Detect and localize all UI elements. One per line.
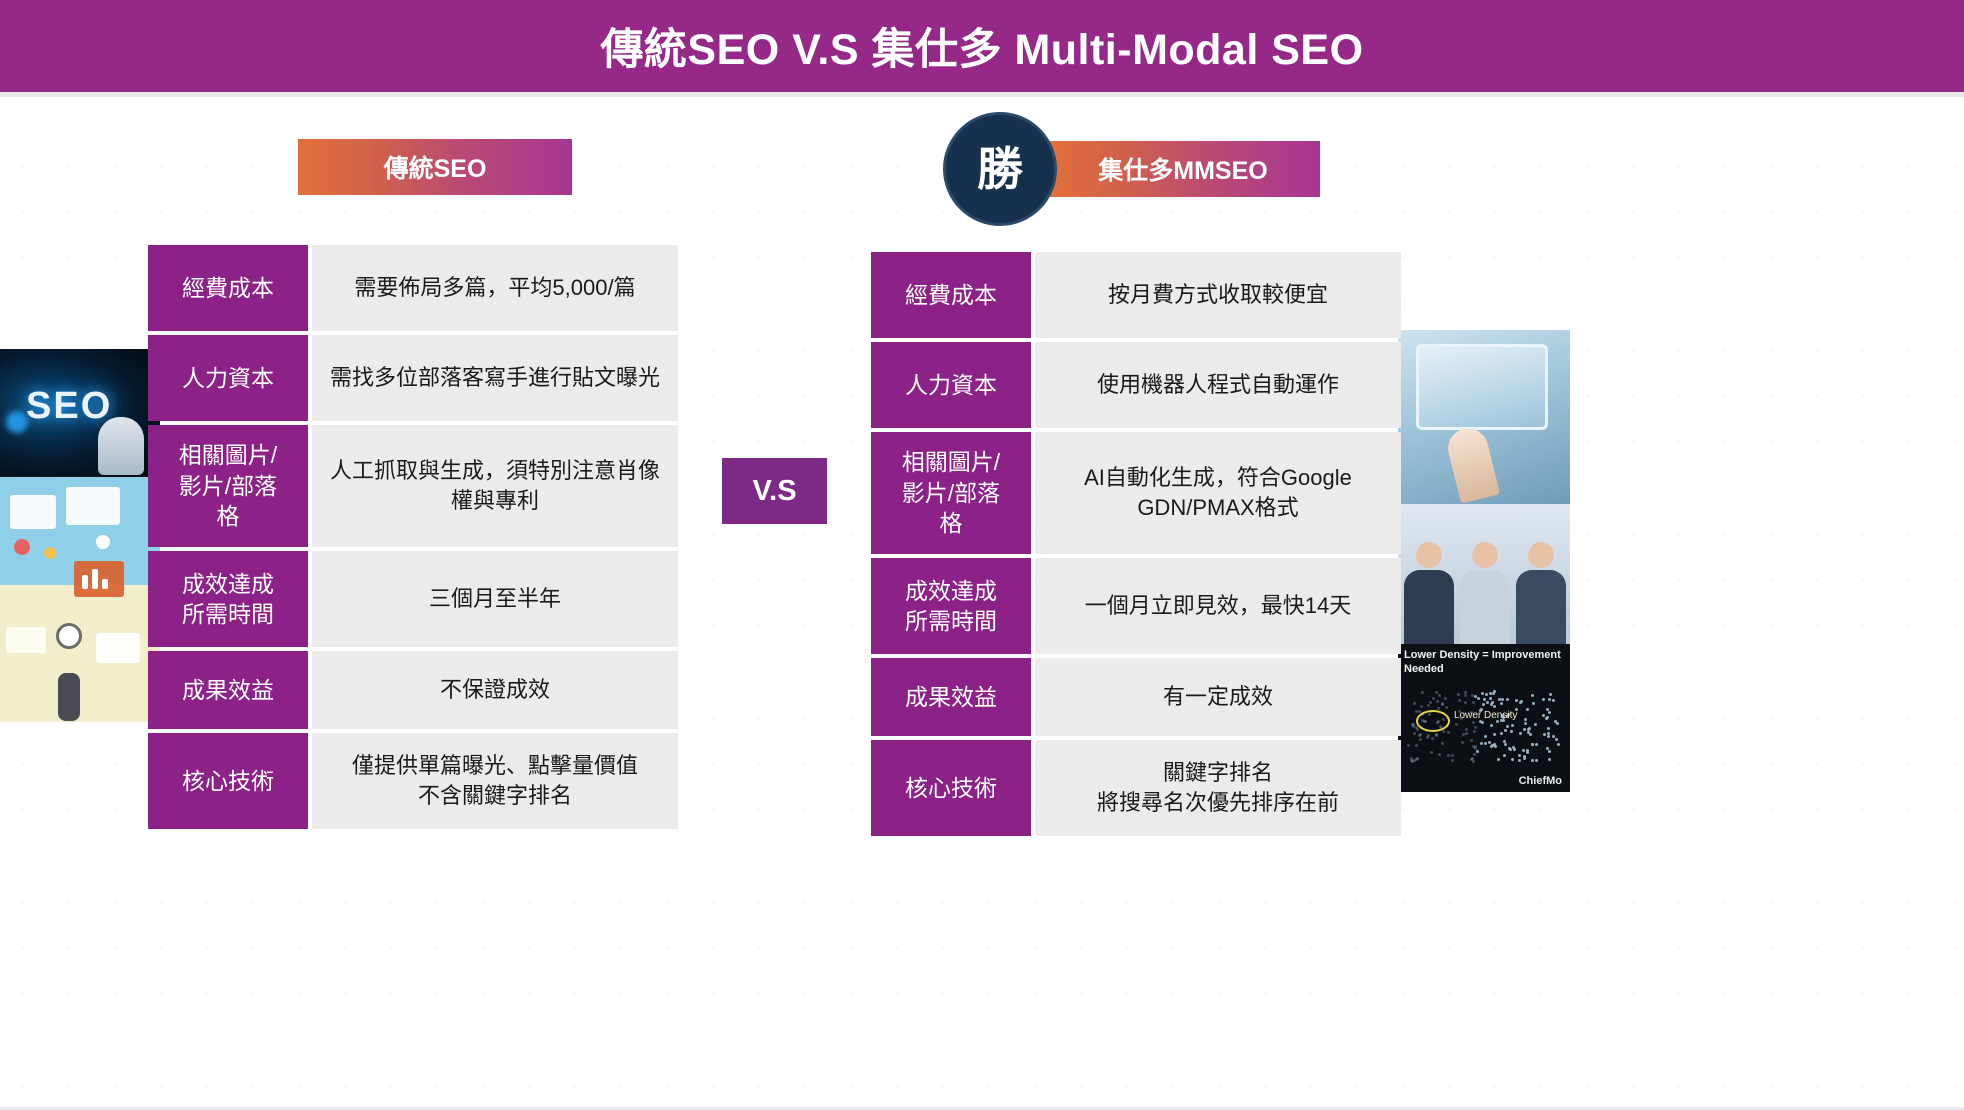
density-dot: [1430, 751, 1433, 754]
column-header-label: 傳統SEO: [384, 149, 487, 185]
density-dot: [1542, 714, 1545, 717]
row-value: 按月費方式收取較便宜: [1035, 252, 1401, 338]
row-value: 關鍵字排名 將搜尋名次優先排序在前: [1035, 740, 1401, 836]
row-value: 有一定成效: [1035, 658, 1401, 736]
density-dot: [1485, 693, 1488, 696]
row-label: 成果效益: [148, 651, 308, 729]
density-dot: [1518, 759, 1521, 762]
row-label: 相關圖片/ 影片/部落 格: [148, 425, 308, 547]
table-row: 成效達成 所需時間三個月至半年: [148, 551, 678, 647]
density-dot: [1523, 755, 1526, 758]
slide-root: 傳統SEO V.S 集仕多 Multi-Modal SEO SEO: [0, 0, 1964, 1110]
density-dot: [1473, 753, 1476, 756]
density-dot: [1546, 708, 1549, 711]
table-row: 成果效益不保證成效: [148, 651, 678, 729]
column-header-traditional-seo: 傳統SEO: [298, 139, 572, 195]
density-dot: [1535, 743, 1538, 746]
density-dot: [1464, 694, 1467, 697]
density-dot: [1465, 728, 1468, 731]
keyword-density-chart-photo: Lower Density = Improvement Needed Lower…: [1398, 644, 1570, 792]
density-dot: [1547, 735, 1550, 738]
density-dot: [1477, 697, 1480, 700]
density-dot: [1522, 749, 1525, 752]
row-value: 僅提供單篇曝光、點擊量價值 不含關鍵字排名: [312, 733, 678, 829]
illus-bar: [102, 579, 108, 589]
row-label: 成果效益: [871, 658, 1031, 736]
table-row: 經費成本按月費方式收取較便宜: [871, 252, 1401, 338]
density-dot: [1462, 733, 1465, 736]
density-dot: [1465, 732, 1468, 735]
density-dot: [1484, 742, 1487, 745]
neon-glow-dot: [6, 411, 28, 433]
density-dot: [1490, 703, 1493, 706]
table-row: 核心技術僅提供單篇曝光、點擊量價值 不含關鍵字排名: [148, 733, 678, 829]
density-caption: Lower Density = Improvement Needed: [1404, 649, 1564, 677]
density-dot: [1435, 733, 1438, 736]
floating-screen: [1416, 344, 1548, 430]
seo-flat-illustration: [0, 477, 160, 722]
illus-chip: [44, 547, 56, 559]
table-row: 成效達成 所需時間一個月立即見效，最快14天: [871, 558, 1401, 654]
title-divider: [0, 92, 1964, 97]
density-dot: [1413, 702, 1416, 705]
density-dot: [1511, 724, 1514, 727]
comparison-table-traditional-seo: 經費成本需要佈局多篇，平均5,000/篇人力資本需找多位部落客寫手進行貼文曝光相…: [148, 245, 678, 829]
density-dot: [1419, 738, 1422, 741]
row-label: 經費成本: [871, 252, 1031, 338]
density-dot: [1447, 731, 1450, 734]
density-dot: [1438, 694, 1441, 697]
density-dot: [1512, 746, 1515, 749]
density-dot: [1524, 718, 1527, 721]
density-dot: [1421, 691, 1424, 694]
density-dot: [1480, 742, 1483, 745]
ai-touchscreen-photo: [1398, 330, 1570, 504]
winner-badge: 勝: [943, 112, 1057, 226]
magnifier-icon: [56, 623, 82, 649]
row-label: 人力資本: [871, 342, 1031, 428]
row-value: 不保證成效: [312, 651, 678, 729]
density-dot: [1506, 698, 1509, 701]
density-dot: [1531, 694, 1534, 697]
density-dot: [1442, 730, 1445, 733]
illus-speech-bubble: [6, 627, 46, 653]
density-dot: [1548, 698, 1551, 701]
density-dot: [1503, 754, 1506, 757]
density-dot: [1472, 760, 1475, 763]
density-dot: [1510, 730, 1513, 733]
density-dot: [1501, 698, 1504, 701]
density-dot: [1557, 743, 1560, 746]
slide-title-bar: 傳統SEO V.S 集仕多 Multi-Modal SEO: [0, 0, 1964, 92]
row-label: 核心技術: [871, 740, 1031, 836]
density-dot: [1484, 735, 1487, 738]
density-dot: [1441, 702, 1444, 705]
table-row: 核心技術關鍵字排名 將搜尋名次優先排序在前: [871, 740, 1401, 836]
density-dot: [1548, 711, 1551, 714]
density-dot: [1472, 745, 1475, 748]
row-value: 人工抓取與生成，須特別注意肖像 權與專利: [312, 425, 678, 547]
hand-illustration: [98, 417, 144, 475]
density-dot: [1413, 759, 1416, 762]
density-dot: [1447, 754, 1450, 757]
density-dot: [1532, 702, 1535, 705]
density-dot: [1444, 697, 1447, 700]
illus-person: [58, 673, 80, 721]
row-label: 人力資本: [148, 335, 308, 421]
density-dot: [1528, 727, 1531, 730]
density-dot: [1455, 723, 1458, 726]
density-dot: [1441, 742, 1444, 745]
table-row: 相關圖片/ 影片/部落 格人工抓取與生成，須特別注意肖像 權與專利: [148, 425, 678, 547]
density-dot: [1419, 733, 1422, 736]
density-dot: [1457, 693, 1460, 696]
illus-card: [96, 633, 140, 663]
density-dot: [1535, 759, 1538, 762]
person-figure: [1460, 542, 1510, 644]
page-title: 傳統SEO V.S 集仕多 Multi-Modal SEO: [600, 15, 1363, 77]
density-dot: [1547, 727, 1550, 730]
density-dot: [1548, 758, 1551, 761]
table-row: 成果效益有一定成效: [871, 658, 1401, 736]
density-dot: [1486, 701, 1489, 704]
density-dot: [1493, 705, 1496, 708]
illus-card: [10, 495, 56, 529]
winner-badge-label: 勝: [977, 146, 1023, 192]
density-dot: [1429, 701, 1432, 704]
density-dot: [1470, 739, 1473, 742]
column-header-mmseo: 集仕多MMSEO: [1046, 141, 1320, 197]
row-value: AI自動化生成，符合Google GDN/PMAX格式: [1035, 432, 1401, 554]
row-value: 三個月至半年: [312, 551, 678, 647]
person-figure: [1516, 542, 1566, 644]
density-dot: [1527, 731, 1530, 734]
row-label: 成效達成 所需時間: [148, 551, 308, 647]
illus-bar: [82, 575, 88, 589]
comparison-table-mmseo: 經費成本按月費方式收取較便宜人力資本使用機器人程式自動運作相關圖片/ 影片/部落…: [871, 252, 1401, 836]
density-dot: [1476, 750, 1479, 753]
seo-neon-photo: SEO: [0, 349, 160, 477]
density-dot: [1474, 726, 1477, 729]
density-dot: [1497, 758, 1500, 761]
row-label: 經費成本: [148, 245, 308, 331]
density-dot: [1489, 697, 1492, 700]
pointing-finger: [1444, 424, 1500, 504]
density-dot: [1500, 732, 1503, 735]
row-label: 核心技術: [148, 733, 308, 829]
illus-chip: [96, 535, 110, 549]
density-dot: [1526, 751, 1529, 754]
illus-chip: [14, 539, 30, 555]
illus-bar: [92, 569, 98, 589]
brand-watermark: ChiefMo: [1519, 775, 1562, 787]
density-dot: [1546, 716, 1549, 719]
row-value: 使用機器人程式自動運作: [1035, 342, 1401, 428]
density-dot: [1531, 743, 1534, 746]
density-dot: [1483, 698, 1486, 701]
density-dot: [1420, 705, 1423, 708]
density-dot: [1519, 732, 1522, 735]
density-dot: [1413, 732, 1416, 735]
density-dot: [1494, 745, 1497, 748]
density-dot: [1524, 722, 1527, 725]
density-dot: [1451, 754, 1454, 757]
row-label: 成效達成 所需時間: [871, 558, 1031, 654]
density-dot: [1492, 692, 1495, 695]
versus-badge-label: V.S: [752, 475, 796, 508]
row-value: 一個月立即見效，最快14天: [1035, 558, 1401, 654]
density-dot: [1542, 698, 1545, 701]
density-dot: [1518, 754, 1521, 757]
density-dot: [1473, 730, 1476, 733]
table-row: 經費成本需要佈局多篇，平均5,000/篇: [148, 245, 678, 331]
density-dot: [1511, 758, 1514, 761]
illus-card: [66, 487, 120, 525]
density-dot: [1552, 699, 1555, 702]
density-dot: [1472, 701, 1475, 704]
density-dot: [1415, 744, 1418, 747]
density-dot: [1523, 728, 1526, 731]
density-dot: [1438, 753, 1441, 756]
density-dot: [1461, 741, 1464, 744]
row-value: 需要佈局多篇，平均5,000/篇: [312, 245, 678, 331]
density-dot: [1436, 700, 1439, 703]
density-dot: [1427, 704, 1430, 707]
column-header-label: 集仕多MMSEO: [1098, 151, 1267, 187]
density-dot: [1490, 724, 1493, 727]
density-dot: [1515, 699, 1518, 702]
row-label: 相關圖片/ 影片/部落 格: [871, 432, 1031, 554]
density-dot: [1482, 703, 1485, 706]
density-dot: [1464, 701, 1467, 704]
table-row: 相關圖片/ 影片/部落 格AI自動化生成，符合Google GDN/PMAX格式: [871, 432, 1401, 554]
versus-badge: V.S: [722, 458, 827, 524]
density-dot: [1549, 693, 1552, 696]
density-dot: [1506, 725, 1509, 728]
density-dot: [1500, 702, 1503, 705]
table-row: 人力資本使用機器人程式自動運作: [871, 342, 1401, 428]
density-dot: [1504, 743, 1507, 746]
density-dot: [1432, 697, 1435, 700]
density-dot: [1481, 692, 1484, 695]
density-dot: [1543, 733, 1546, 736]
density-dot: [1431, 737, 1434, 740]
low-density-ring: [1416, 710, 1450, 732]
person-figure: [1404, 542, 1454, 644]
density-dot: [1531, 759, 1534, 762]
density-dot: [1534, 723, 1537, 726]
density-dot: [1407, 744, 1410, 747]
density-dot: [1504, 729, 1507, 732]
density-dot: [1451, 759, 1454, 762]
density-dot: [1548, 750, 1551, 753]
business-people-photo: [1398, 504, 1570, 644]
table-row: 人力資本需找多位部落客寫手進行貼文曝光: [148, 335, 678, 421]
density-dot: [1493, 733, 1496, 736]
seo-photo-word: SEO: [26, 385, 112, 428]
density-dot: [1458, 699, 1461, 702]
row-value: 需找多位部落客寫手進行貼文曝光: [312, 335, 678, 421]
density-dot: [1445, 706, 1448, 709]
density-dot: [1520, 700, 1523, 703]
density-dot: [1426, 736, 1429, 739]
low-density-label: Lower Density: [1454, 710, 1517, 722]
density-dot: [1555, 738, 1558, 741]
density-dot: [1526, 708, 1529, 711]
